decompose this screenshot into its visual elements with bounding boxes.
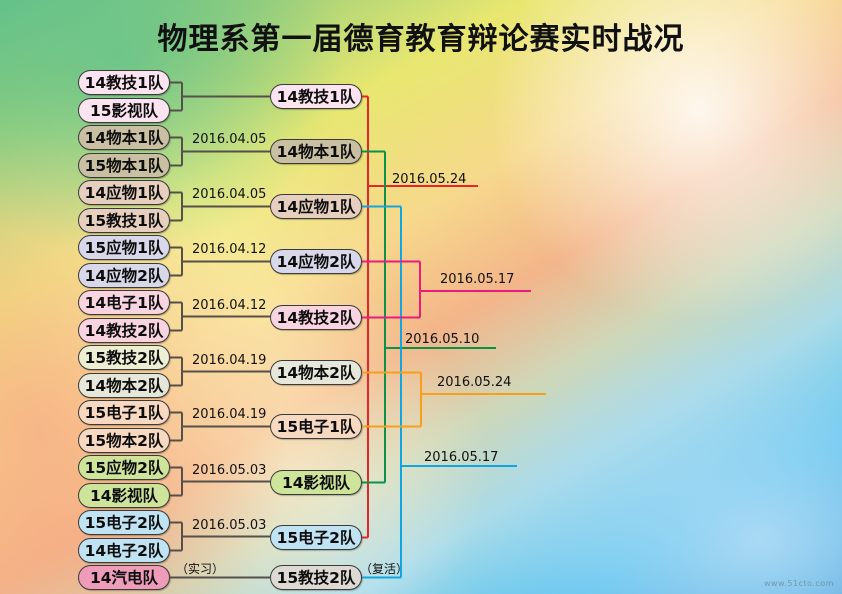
tournament-bracket-poster: 物理系第一届德育教育辩论赛实时战况 14教技1队15影视队14物本1队15物本1… (0, 0, 842, 594)
watermark: www.51cto.com (764, 579, 834, 588)
bracket-lines (0, 0, 842, 594)
